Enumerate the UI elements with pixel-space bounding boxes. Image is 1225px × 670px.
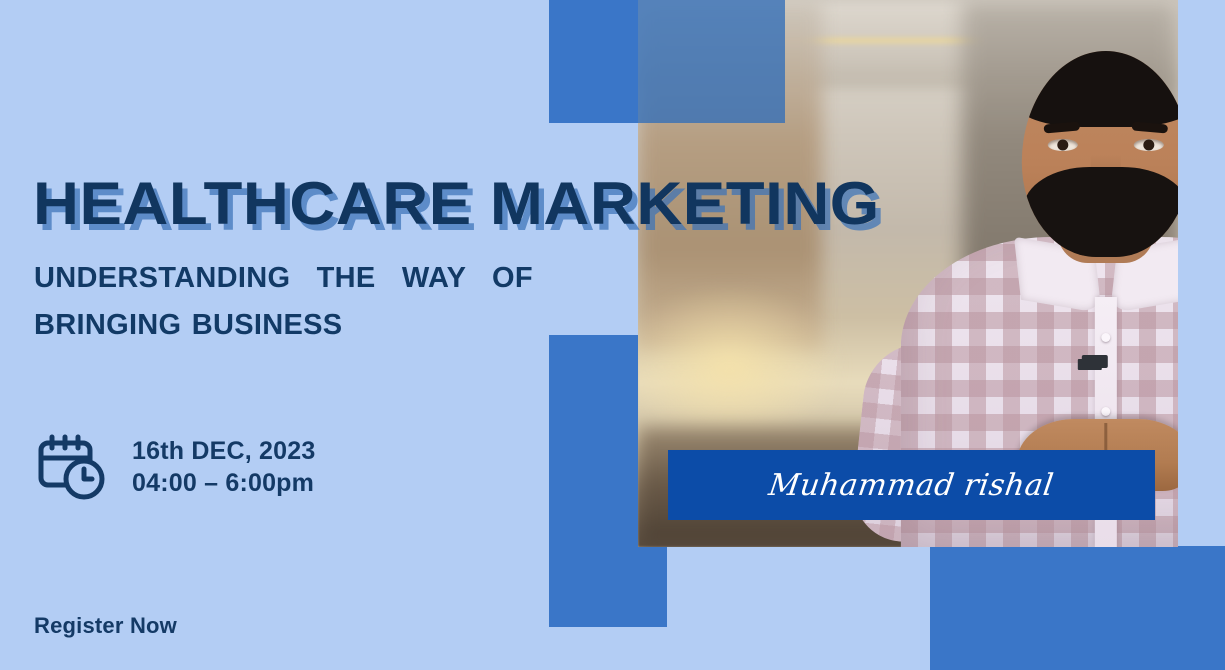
- shirt-button: [1101, 407, 1110, 416]
- speaker-eyebrow-left: [1043, 121, 1080, 133]
- page-title: HEALTHCARE MARKETING: [33, 174, 880, 234]
- speaker-name-text: Muhammad rishal: [767, 468, 1056, 503]
- speaker-beard: [1024, 167, 1178, 257]
- speaker-head: [1022, 51, 1178, 257]
- photo-window-glow: [638, 284, 843, 448]
- accent-block-bottom-right: [930, 546, 1225, 670]
- speaker-name-banner: Muhammad rishal: [668, 450, 1155, 520]
- speaker-eye-left: [1048, 139, 1078, 151]
- event-date: 16th DEC, 2023: [132, 435, 315, 467]
- shirt-button: [1101, 333, 1110, 342]
- event-datetime-text: 16th DEC, 2023 04:00 – 6:00pm: [132, 435, 315, 499]
- calendar-clock-icon: [36, 432, 106, 502]
- speaker-eyebrow-right: [1131, 121, 1168, 133]
- event-datetime: 16th DEC, 2023 04:00 – 6:00pm: [36, 432, 315, 502]
- register-now-link[interactable]: Register Now: [34, 613, 177, 639]
- event-time: 04:00 – 6:00pm: [132, 467, 315, 499]
- page-subtitle: UNDERSTANDING THE WAY OF BRINGING BUSINE…: [34, 255, 634, 349]
- subtitle-line-1: UNDERSTANDING THE WAY OF: [34, 255, 634, 302]
- subtitle-line-2: BRINGING BUSINESS: [34, 302, 634, 349]
- speaker-eye-right: [1134, 139, 1164, 151]
- speaker-hair: [1022, 51, 1178, 127]
- lapel-microphone-icon: [1082, 355, 1108, 368]
- webinar-poster: Muhammad rishal HEALTHCARE MARKETING UND…: [0, 0, 1225, 670]
- accent-block-photo-overlay: [638, 0, 785, 123]
